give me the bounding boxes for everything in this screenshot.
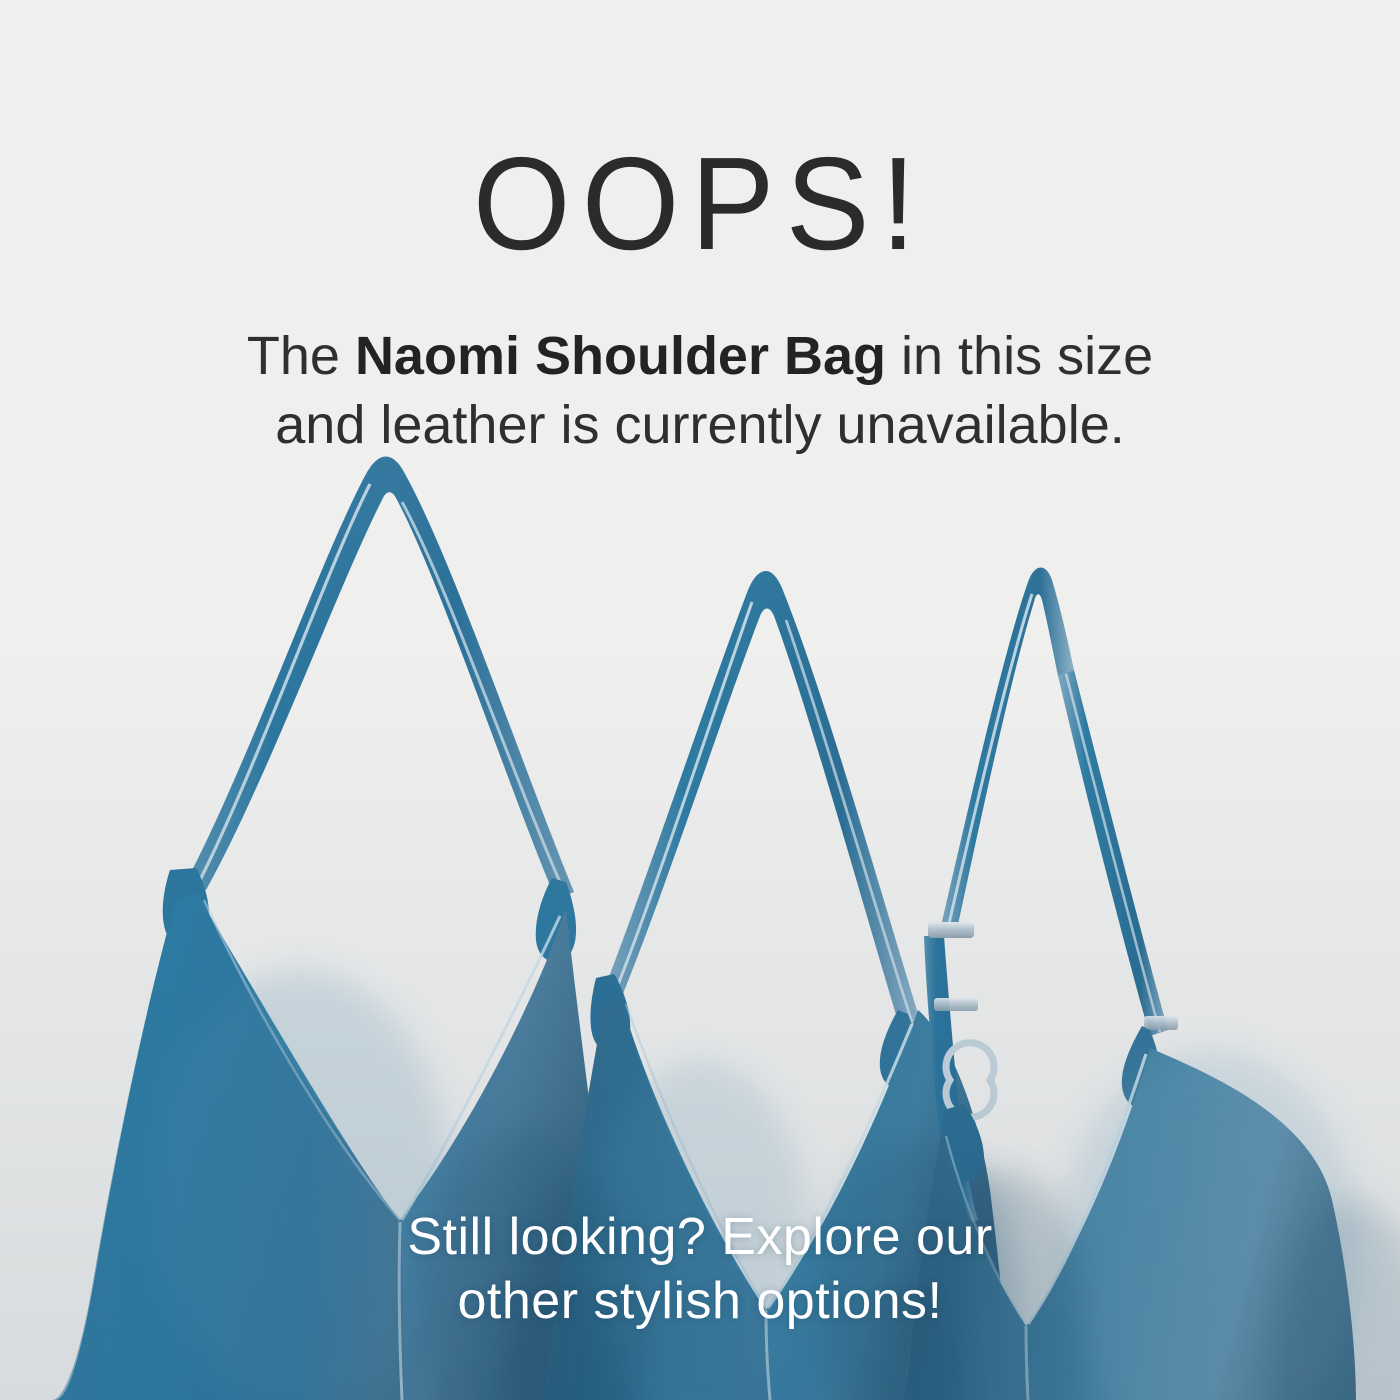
- unavailable-message: The Naomi Shoulder Bag in this size and …: [0, 322, 1400, 460]
- bag-3-strap-stitch-b: [1066, 674, 1160, 1032]
- bag-3-buckle-slider: [928, 922, 974, 938]
- unavailable-message-line-2: and leather is currently unavailable.: [0, 391, 1400, 460]
- bag-3-buckle-keeper: [934, 998, 978, 1011]
- error-page: OOPS! The Naomi Shoulder Bag in this siz…: [0, 0, 1400, 1400]
- unavailable-message-line-1: The Naomi Shoulder Bag in this size: [0, 322, 1400, 391]
- bag-1-strap: [186, 456, 574, 900]
- message-suffix: in this size: [886, 326, 1153, 386]
- explore-cta-line-2: other stylish options!: [0, 1270, 1400, 1334]
- explore-cta[interactable]: Still looking? Explore our other stylish…: [0, 1206, 1400, 1334]
- message-prefix: The: [247, 326, 355, 386]
- explore-cta-line-1: Still looking? Explore our: [0, 1206, 1400, 1270]
- product-name: Naomi Shoulder Bag: [355, 326, 886, 386]
- page-title: OOPS!: [35, 138, 1365, 270]
- bag-3-ring-right: [1144, 1016, 1178, 1030]
- bag-2-strap-stitch-right: [786, 620, 912, 1022]
- bag-2-strap: [604, 571, 920, 1028]
